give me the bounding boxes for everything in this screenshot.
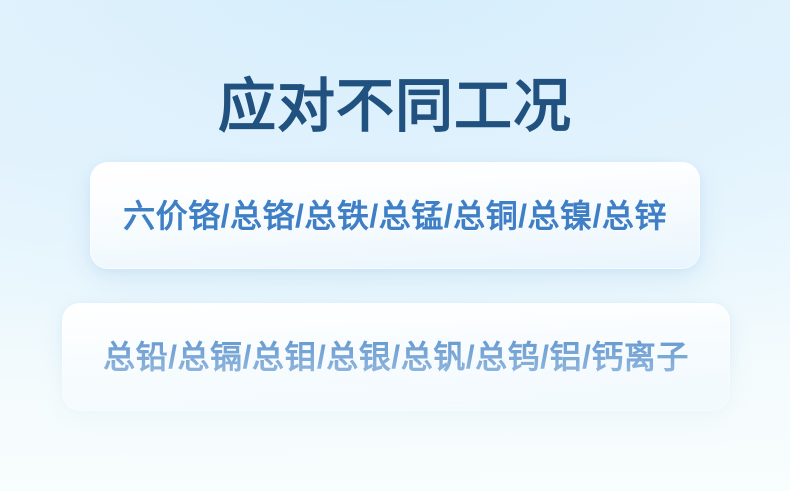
parameter-card-row-2[interactable]: 总铅/总镉/总钼/总银/总钒/总钨/铝/钙离子	[62, 303, 730, 411]
parameter-list-row-1: 六价铬/总铬/总铁/总锰/总铜/总镍/总锌	[123, 196, 667, 236]
parameter-list-row-2: 总铅/总镉/总钼/总银/总钒/总钨/铝/钙离子	[103, 337, 689, 377]
promo-banner: 应对不同工况 六价铬/总铬/总铁/总锰/总铜/总镍/总锌 总铅/总镉/总钼/总银…	[0, 0, 790, 491]
page-title: 应对不同工况	[0, 72, 790, 142]
parameter-card-row-1[interactable]: 六价铬/总铬/总铁/总锰/总铜/总镍/总锌	[90, 162, 700, 269]
